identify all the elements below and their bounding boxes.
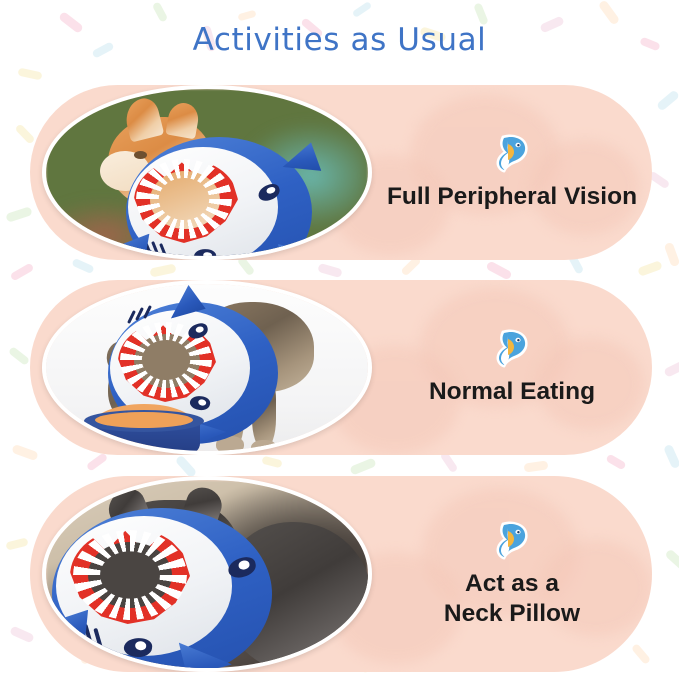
confetti-sprinkle (664, 548, 679, 572)
shark-badge-icon (495, 133, 529, 173)
feature-photo-act-as-a-neck-pillow (42, 476, 372, 672)
confetti-sprinkle (17, 68, 42, 81)
confetti-sprinkle (656, 89, 679, 111)
confetti-sprinkle (663, 444, 679, 470)
shark-badge-icon (495, 520, 529, 560)
confetti-sprinkle (523, 460, 548, 472)
feature-photo-normal-eating (42, 280, 372, 455)
confetti-sprinkle (637, 260, 663, 277)
confetti-sprinkle (71, 258, 94, 274)
confetti-sprinkle (9, 626, 35, 644)
confetti-sprinkle (149, 263, 176, 277)
shark-badge-icon (495, 328, 529, 368)
feature-card-act-as-a-neck-pillow: Act as a Neck Pillow (30, 476, 652, 672)
confetti-sprinkle (175, 455, 198, 479)
feature-label-text: Act as a Neck Pillow (444, 569, 580, 628)
confetti-sprinkle (10, 263, 35, 282)
confetti-sprinkle (352, 1, 372, 18)
confetti-sprinkle (14, 123, 35, 144)
confetti-sprinkle (8, 346, 30, 366)
confetti-sprinkle (86, 452, 109, 471)
confetti-sprinkle (317, 263, 343, 278)
feature-label-text: Full Peripheral Vision (387, 182, 637, 211)
confetti-sprinkle (5, 537, 28, 550)
feature-label-block-full-peripheral-vision: Full Peripheral Vision (372, 85, 652, 260)
confetti-sprinkle (11, 444, 39, 461)
confetti-sprinkle (605, 454, 626, 471)
page-title: Activities as Usual (0, 22, 679, 58)
confetti-sprinkle (152, 1, 168, 22)
feature-label-block-normal-eating: Normal Eating (372, 280, 652, 455)
confetti-sprinkle (349, 457, 376, 475)
confetti-sprinkle (261, 456, 282, 469)
feature-card-full-peripheral-vision: Full Peripheral Vision (30, 85, 652, 260)
feature-label-block-act-as-a-neck-pillow: Act as a Neck Pillow (372, 476, 652, 672)
feature-photo-full-peripheral-vision (42, 85, 372, 260)
confetti-sprinkle (5, 206, 33, 223)
confetti-sprinkle (485, 260, 512, 280)
feature-card-normal-eating: Normal Eating (30, 280, 652, 455)
confetti-sprinkle (237, 10, 256, 22)
feature-label-text: Normal Eating (429, 377, 595, 406)
confetti-sprinkle (663, 359, 679, 378)
confetti-sprinkle (664, 242, 679, 268)
